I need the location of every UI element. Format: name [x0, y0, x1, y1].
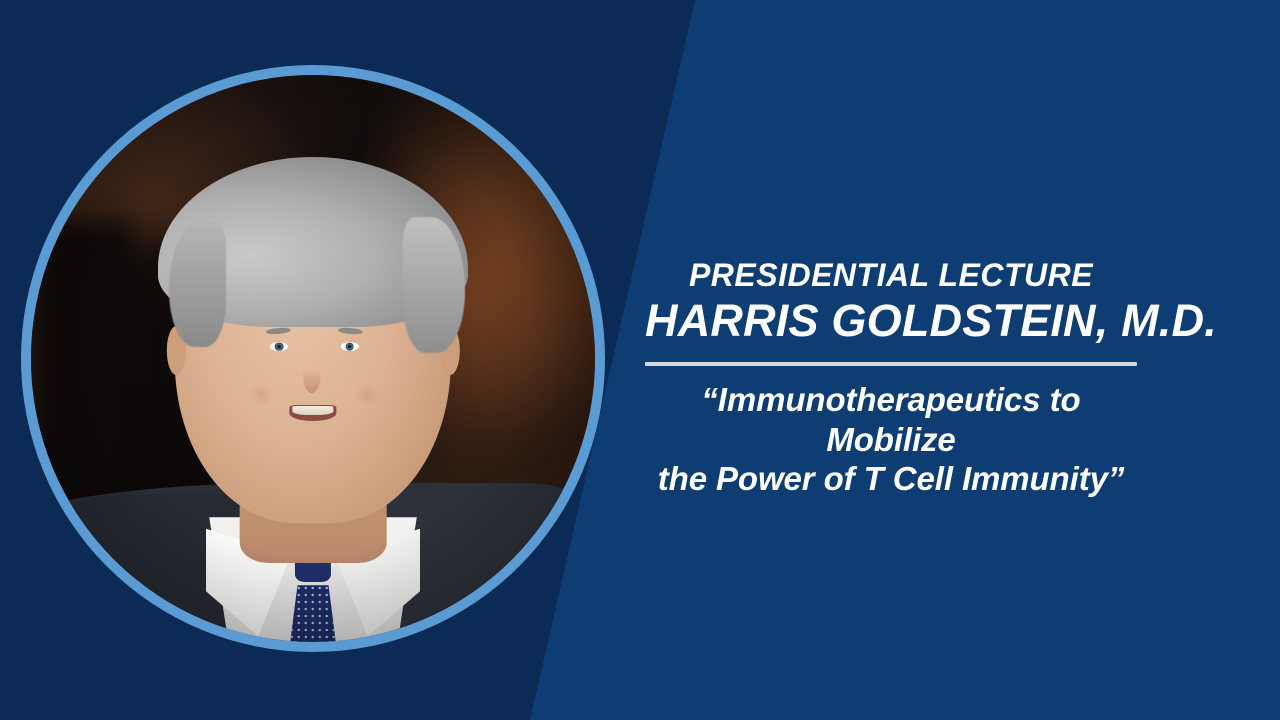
lecture-title-line-1: “Immunotherapeutics to Mobilize — [701, 381, 1080, 458]
iris-left — [275, 342, 283, 351]
eye-left — [270, 342, 288, 351]
hair-side-left — [169, 222, 225, 347]
lecture-announcement-slide: PRESIDENTIAL LECTURE HARRIS GOLDSTEIN, M… — [0, 0, 1280, 720]
eye-right — [341, 342, 359, 351]
speaker-portrait — [31, 75, 595, 642]
eyebrow-left — [266, 327, 291, 335]
lecture-text-block: PRESIDENTIAL LECTURE HARRIS GOLDSTEIN, M… — [645, 258, 1137, 499]
mouth — [290, 405, 337, 420]
cheek-right — [354, 382, 379, 407]
title-divider — [645, 362, 1137, 366]
iris-right — [346, 342, 354, 351]
nose — [303, 354, 321, 393]
eyebrow-right — [338, 327, 363, 335]
lecture-title-line-2: the Power of T Cell Immunity” — [645, 459, 1137, 499]
lecture-kicker: PRESIDENTIAL LECTURE — [645, 258, 1137, 294]
speaker-name: HARRIS GOLDSTEIN, M.D. — [645, 295, 1137, 347]
cheek-left — [249, 382, 274, 407]
lecture-title: “Immunotherapeutics to Mobilize the Powe… — [645, 380, 1137, 499]
teeth — [292, 406, 333, 415]
speaker-portrait-ring — [21, 65, 605, 652]
